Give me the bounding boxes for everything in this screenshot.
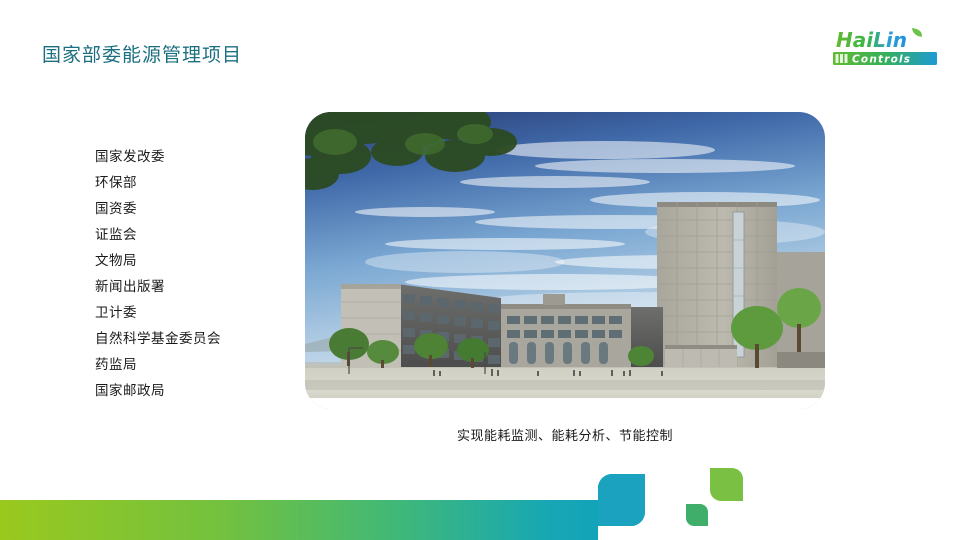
leaf-square-small-icon: [686, 504, 708, 526]
slide: 国家部委能源管理项目 HaiLin: [0, 0, 960, 540]
footer-band: [0, 474, 645, 540]
footer-decoration: [0, 460, 960, 540]
logo-banner: Controls: [833, 52, 937, 66]
list-item: 文物局: [95, 248, 295, 274]
photo-caption: 实现能耗监测、能耗分析、节能控制: [305, 425, 825, 444]
photo-frame: [305, 112, 825, 409]
list-item: 自然科学基金委员会: [95, 326, 295, 352]
list-item: 环保部: [95, 170, 295, 196]
building-photo: [305, 112, 825, 409]
leaf-square-large-icon: [710, 468, 743, 501]
list-item: 国家邮政局: [95, 378, 295, 404]
list-item: 国家发改委: [95, 144, 295, 170]
logo-tagline: Controls: [852, 54, 911, 66]
logo-wordmark: HaiLin: [836, 28, 907, 52]
leaf-icon: [912, 28, 922, 37]
footer-step-block: [598, 474, 645, 526]
list-item: 卫计委: [95, 300, 295, 326]
hailin-controls-logo: HaiLin Controls: [830, 26, 942, 72]
page-title: 国家部委能源管理项目: [42, 40, 242, 67]
list-item: 新闻出版署: [95, 274, 295, 300]
list-item: 药监局: [95, 352, 295, 378]
department-list: 国家发改委 环保部 国资委 证监会 文物局 新闻出版署 卫计委 自然科学基金委员…: [95, 144, 295, 404]
list-item: 证监会: [95, 222, 295, 248]
list-item: 国资委: [95, 196, 295, 222]
